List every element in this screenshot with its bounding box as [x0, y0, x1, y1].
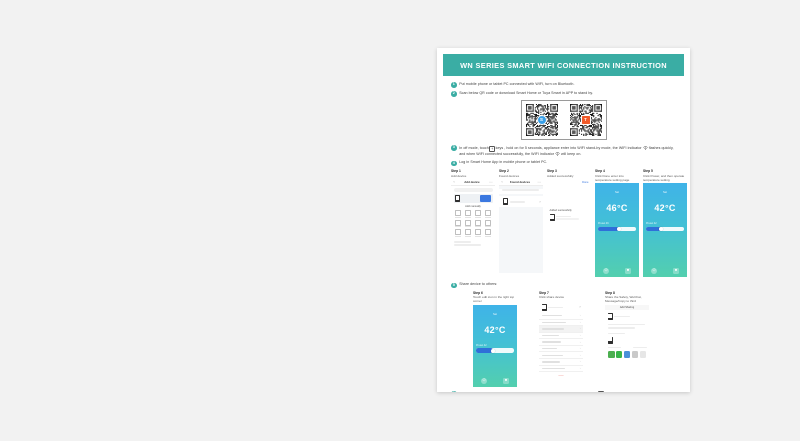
step-5-temperature-value: 42°C [643, 203, 687, 213]
step-1-phone-screen: ‹ Add device ⋯ Add manually [451, 179, 495, 273]
step-6-temperature-value: 42°C [473, 325, 517, 335]
list-item[interactable]: › [539, 352, 583, 359]
category-cell[interactable] [454, 220, 462, 228]
list-item[interactable]: › [539, 339, 583, 346]
share-section-text: Share device to others: [459, 282, 497, 287]
bullet-number-4: 4 [451, 161, 457, 167]
list-item-share-device[interactable]: › [539, 333, 583, 340]
step-1-search-field[interactable] [454, 188, 493, 192]
step-8-screen-title: Add Sharing [605, 305, 649, 310]
wifi-indicator-icon [643, 146, 648, 152]
message-share-icon[interactable] [616, 351, 623, 358]
other-share-icon[interactable] [640, 351, 647, 358]
device-thumb-icon [455, 195, 460, 202]
step-3-section-title: Added successfully [550, 209, 589, 212]
step-1-phone-topbar: ‹ Add device ⋯ [451, 179, 495, 186]
qr-code-panel: S T [521, 100, 607, 140]
step-6-screen-title: Set [473, 313, 517, 316]
step-8: Step 8 Share the Safety, WeChat, Message… [605, 291, 649, 387]
category-cell[interactable] [464, 229, 472, 237]
step-6-slider-label: Preset 42 [476, 344, 517, 347]
step-5-temperature-slider[interactable] [646, 227, 684, 232]
steps-row-1: Step 1 Add device ‹ Add device ⋯ [451, 169, 676, 277]
step-6-bottom-controls: ⏻ ■ [473, 378, 517, 384]
step-5-screen-title: Set [643, 191, 687, 194]
step-4-temperature-value: 46°C [595, 203, 639, 213]
step-4: Step 4 Click Done enter into temperature… [595, 169, 639, 277]
device-thumb-icon [542, 304, 547, 311]
step-1: Step 1 Add device ‹ Add device ⋯ [451, 169, 495, 273]
step-2-device-row[interactable]: › [499, 196, 543, 207]
settings-button[interactable]: ■ [673, 268, 679, 274]
step-1-screen-title: Add device [464, 180, 479, 184]
smart-home-qr-icon: S [526, 104, 558, 136]
step-7-phone-screen: › › › › › › › › › › —— [539, 301, 583, 383]
instruction-3-part1: In off mode, touch [459, 146, 489, 150]
bullet-number-2: 2 [451, 91, 457, 97]
device-name [614, 316, 646, 318]
sheet-body: 1 Put mobile phone or tablet PC connecte… [443, 76, 684, 392]
step-6-temperature-slider[interactable] [476, 348, 514, 353]
copy-link-icon[interactable] [624, 351, 631, 358]
step-4-temperature-slider[interactable] [598, 227, 636, 232]
device-thumb-icon [503, 198, 508, 205]
category-cell[interactable] [464, 210, 472, 218]
tuya-smart-logo-icon: T [581, 115, 591, 125]
instruction-3-part4: will keep on. [561, 152, 581, 156]
more-icon[interactable]: ⋯ [537, 180, 540, 184]
device-thumb-icon [608, 313, 613, 320]
instruction-text-4: Log in Smart Home App in mobile phone or… [459, 160, 547, 165]
screenshot-canvas: WN SERIES SMART WIFI CONNECTION INSTRUCT… [0, 0, 800, 441]
list-item[interactable]: › [539, 326, 583, 333]
category-cell[interactable] [464, 220, 472, 228]
category-cell[interactable] [484, 229, 492, 237]
category-cell[interactable] [454, 229, 462, 237]
step-2-phone-screen: ‹ Found devices ⋯ [499, 179, 543, 273]
instruction-sheet: WN SERIES SMART WIFI CONNECTION INSTRUCT… [437, 48, 690, 392]
step-4-bottom-controls: ⏻ ■ [595, 268, 639, 274]
step-4-phone-screen: Set 46°C Preset 46 ⏻ ■ [595, 183, 639, 277]
smart-home-logo-icon: S [537, 115, 547, 125]
step-3-device-row [550, 214, 589, 221]
chevron-right-icon[interactable]: › [579, 305, 580, 309]
step-3-phone-screen: Done Added successfully [547, 179, 591, 273]
footer-note-text: If want to connect with new WIFI, please… [459, 391, 676, 392]
tuya-smart-qr-icon: T [570, 104, 602, 136]
footer-note: 6 If want to connect with new WIFI, plea… [451, 391, 676, 392]
settings-button[interactable]: ■ [625, 268, 631, 274]
share-divider [605, 347, 649, 349]
page-title: WN SERIES SMART WIFI CONNECTION INSTRUCT… [460, 61, 667, 70]
more-icon[interactable]: ⋯ [489, 180, 492, 184]
scan-button[interactable] [480, 195, 491, 202]
list-item[interactable]: › [539, 313, 583, 320]
step-1-category-grid [451, 210, 495, 237]
wifi-indicator-icon-2 [555, 152, 560, 158]
bullet-number-6: 6 [451, 391, 457, 392]
step-8-subtitle: Share the Safety, WeChat, Message/Copy t… [605, 295, 649, 303]
instruction-item-1: 1 Put mobile phone or tablet PC connecte… [451, 82, 676, 88]
step-5-bottom-controls: ⏻ ■ [643, 268, 687, 274]
category-cell[interactable] [454, 210, 462, 218]
step-5-subtitle: Click Power, and then operate temperatur… [643, 174, 687, 182]
instruction-text-1: Put mobile phone or tablet PC connected … [459, 82, 574, 87]
step-5: Step 5 Click Power, and then operate tem… [643, 169, 687, 277]
step-8-phone-screen: Add Sharing [605, 305, 649, 387]
instruction-3-part2: keys , hold on for 5 seconds, appliance … [496, 146, 642, 150]
more-share-icon[interactable] [632, 351, 639, 358]
status-bar [473, 305, 517, 310]
category-cell[interactable] [474, 229, 482, 237]
step-2-subtitle: Found devices [499, 174, 543, 178]
power-button[interactable]: ⏻ [481, 378, 487, 384]
step-5-slider-label: Preset 42 [646, 222, 687, 225]
step-7-device-row[interactable]: › [542, 304, 581, 311]
step-1-auto-scan-banner[interactable] [454, 194, 493, 203]
category-cell[interactable] [484, 210, 492, 218]
status-bar [595, 183, 639, 188]
list-item[interactable]: › [539, 346, 583, 353]
share-icons-row [605, 351, 649, 358]
sheet-inner: WN SERIES SMART WIFI CONNECTION INSTRUCT… [443, 54, 684, 386]
step-1-section-title: Add manually [454, 205, 493, 208]
remove-device-action[interactable]: —— [539, 374, 583, 377]
step-6: Step 6 Touch edit icon in the right top … [473, 291, 517, 387]
steps-row-2: Step 6 Touch edit icon in the right top … [473, 291, 676, 387]
device-thumb-icon [550, 214, 555, 221]
plus-key-icon-2: + [598, 391, 604, 392]
step-7: Step 7 Click share device › › › [539, 291, 583, 383]
step-1-subtitle: Add device [451, 174, 495, 178]
step-7-subtitle: Click share device [539, 295, 583, 299]
list-item[interactable]: › [539, 359, 583, 366]
qr-share-icon[interactable] [608, 337, 613, 344]
device-name [556, 216, 588, 220]
step-4-screen-title: Set [595, 191, 639, 194]
power-button[interactable]: ⏻ [651, 268, 657, 274]
step-2: Step 2 Found devices ‹ Found devices ⋯ [499, 169, 543, 273]
done-button[interactable]: Done [582, 181, 588, 184]
bullet-number-1: 1 [451, 82, 457, 88]
step-5-phone-screen: Set 42°C Preset 42 ⏻ ■ [643, 183, 687, 277]
step-6-phone-screen: Set 42°C Preset 42 ⏻ ■ [473, 305, 517, 387]
step-2-phone-topbar: ‹ Found devices ⋯ [499, 179, 543, 186]
step-2-note-area [499, 189, 543, 194]
step-4-subtitle: Click Done enter into temperature settin… [595, 174, 639, 182]
category-cell[interactable] [484, 220, 492, 228]
list-item[interactable]: › [539, 366, 583, 373]
step-6-subtitle: Touch edit icon in the right top corner [473, 295, 517, 303]
instruction-item-2: 2 Scan below QR code or download Smart H… [451, 91, 676, 97]
device-name [510, 201, 538, 203]
chevron-right-icon[interactable]: › [539, 200, 540, 204]
step-3: Step 3 Added successfully Done Added suc… [547, 169, 591, 273]
step-8-device-row [608, 313, 647, 320]
share-section-heading: 5 Share device to others: [451, 282, 676, 288]
step-4-slider-label: Preset 46 [598, 222, 639, 225]
edit-button[interactable]: ■ [503, 378, 509, 384]
power-button[interactable]: ⏻ [603, 268, 609, 274]
instruction-text-2: Scan below QR code or download Smart Hom… [459, 91, 593, 96]
instruction-item-3: 3 In off mode, touch+keys , hold on for … [451, 145, 676, 157]
sheet-header: WN SERIES SMART WIFI CONNECTION INSTRUCT… [443, 54, 684, 76]
step-3-subtitle: Added successfully [547, 174, 591, 178]
instruction-text-3: In off mode, touch+keys , hold on for 5 … [459, 145, 676, 157]
status-bar [643, 183, 687, 188]
bullet-number-3: 3 [451, 145, 457, 151]
bullet-number-5: 5 [451, 283, 457, 289]
instruction-item-4: 4 Log in Smart Home App in mobile phone … [451, 160, 676, 166]
back-icon[interactable]: ‹ [454, 180, 455, 184]
category-cell[interactable] [474, 220, 482, 228]
device-name [548, 307, 577, 309]
wechat-share-icon[interactable] [608, 351, 615, 358]
list-item[interactable]: › [539, 320, 583, 327]
step-2-screen-title: Found devices [510, 180, 530, 184]
back-icon[interactable]: ‹ [502, 180, 503, 184]
plus-key-icon: + [489, 146, 495, 152]
category-cell[interactable] [474, 210, 482, 218]
